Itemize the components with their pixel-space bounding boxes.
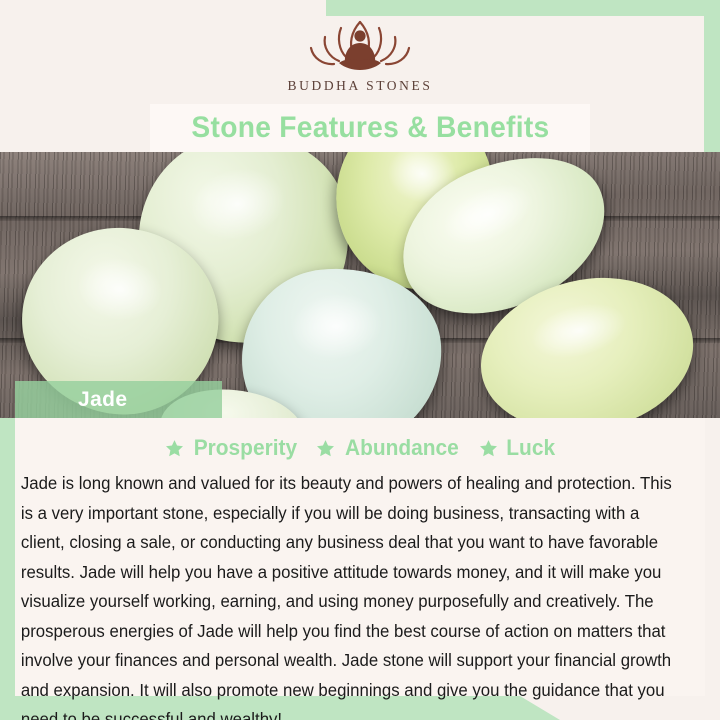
content-panel: Prosperity Abundance Luck Jade	[15, 418, 705, 696]
star-icon	[478, 438, 499, 459]
benefit-label: Abundance	[345, 435, 459, 461]
title-band: Stone Features & Benefits	[150, 104, 590, 152]
benefit-label: Luck	[506, 435, 555, 461]
stone-photo	[0, 152, 720, 418]
stone-description: Jade is long known and valued for its be…	[17, 469, 679, 720]
brand-wordmark: BUDDHA STONES	[288, 78, 433, 94]
benefits-row: Prosperity Abundance Luck	[17, 429, 703, 467]
page-title: Stone Features & Benefits	[191, 111, 549, 145]
stone-name-band: Jade	[15, 381, 222, 418]
star-icon	[164, 438, 185, 459]
stone-name-label: Jade	[78, 388, 127, 412]
benefit-item: Abundance	[315, 435, 462, 461]
lotus-meditation-icon	[301, 14, 419, 76]
benefit-label: Prosperity	[193, 435, 296, 461]
brand-header: BUDDHA STONES	[0, 0, 720, 106]
benefit-item: Prosperity	[164, 435, 300, 461]
benefit-item: Luck	[478, 435, 556, 461]
infographic-page: BUDDHA STONES Stone Features & Benefits	[0, 0, 720, 720]
star-icon	[315, 438, 336, 459]
